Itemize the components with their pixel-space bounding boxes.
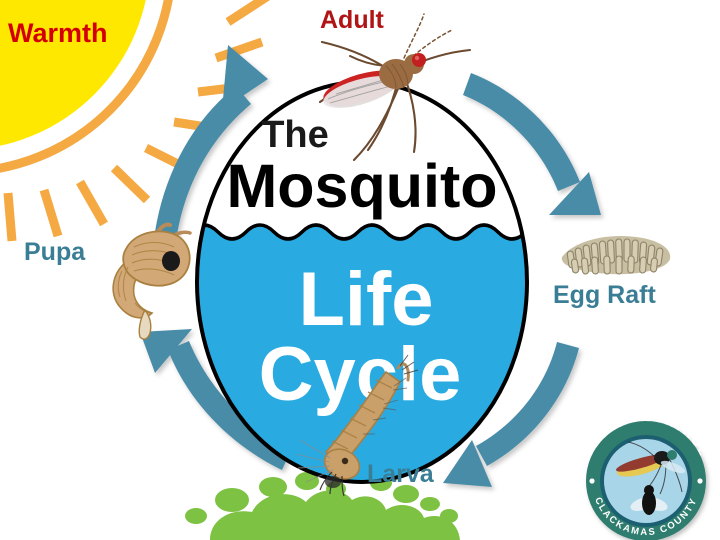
label-adult: Adult	[320, 8, 384, 33]
label-pupa: Pupa	[24, 240, 85, 265]
mosquito-life-cycle-diagram: The Mosquito Life Cycle	[0, 0, 720, 540]
logo-dot-right	[697, 478, 702, 483]
label-larva: Larva	[367, 462, 434, 487]
label-egg-raft: Egg Raft	[553, 283, 656, 308]
vector-control-logo[interactable]: VECTOR CONTROL CLACKAMAS COUNTY	[0, 0, 720, 540]
logo-dot-left	[589, 478, 594, 483]
label-warmth: Warmth	[8, 20, 108, 47]
